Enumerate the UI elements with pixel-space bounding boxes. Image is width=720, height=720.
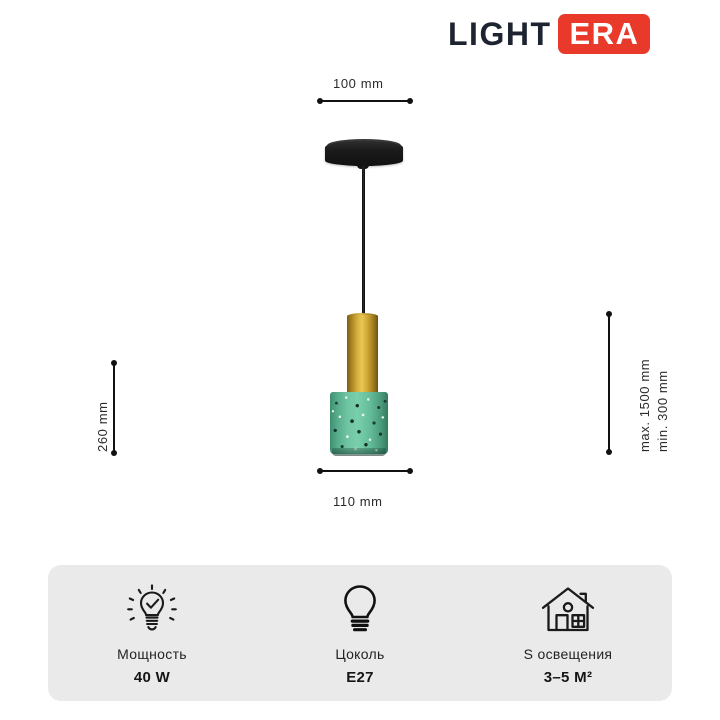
- dimension-line-shade-height: [113, 361, 115, 455]
- brass-tube: [347, 315, 378, 400]
- dimension-line-bottom-width: [318, 470, 412, 472]
- bulb-check-icon: [125, 581, 179, 637]
- dimension-line-drop-range: [608, 312, 610, 454]
- spec-value-power: 40 W: [134, 669, 170, 686]
- spec-title-socket: Цоколь: [335, 646, 384, 662]
- specs-panel: Мощность 40 W Цоколь E27: [48, 565, 672, 701]
- product-spec-diagram: LIGHT ERA 100 mm 260 mm max. 1500 mm min…: [0, 0, 720, 720]
- spec-value-socket: E27: [346, 669, 374, 686]
- spec-item-socket: Цоколь E27: [256, 581, 464, 686]
- suspension-cord: [362, 166, 365, 316]
- spec-title-area: S освещения: [524, 646, 613, 662]
- terrazzo-shade: [330, 392, 388, 454]
- dimension-label-drop-min: min. 300 mm: [655, 370, 670, 452]
- lamp-illustration: [0, 0, 720, 560]
- bulb-socket-icon: [333, 581, 387, 637]
- spec-value-area: 3–5 M²: [544, 669, 593, 686]
- spec-title-power: Мощность: [117, 646, 187, 662]
- dimension-label-drop-max: max. 1500 mm: [637, 359, 652, 452]
- house-icon: [539, 581, 597, 637]
- shade-bottom-rim: [332, 448, 386, 456]
- spec-item-area: S освещения 3–5 M²: [464, 581, 672, 686]
- dimension-label-shade-height: 260 mm: [95, 401, 110, 452]
- dimension-label-bottom-width: 110 mm: [333, 494, 383, 509]
- spec-item-power: Мощность 40 W: [48, 581, 256, 686]
